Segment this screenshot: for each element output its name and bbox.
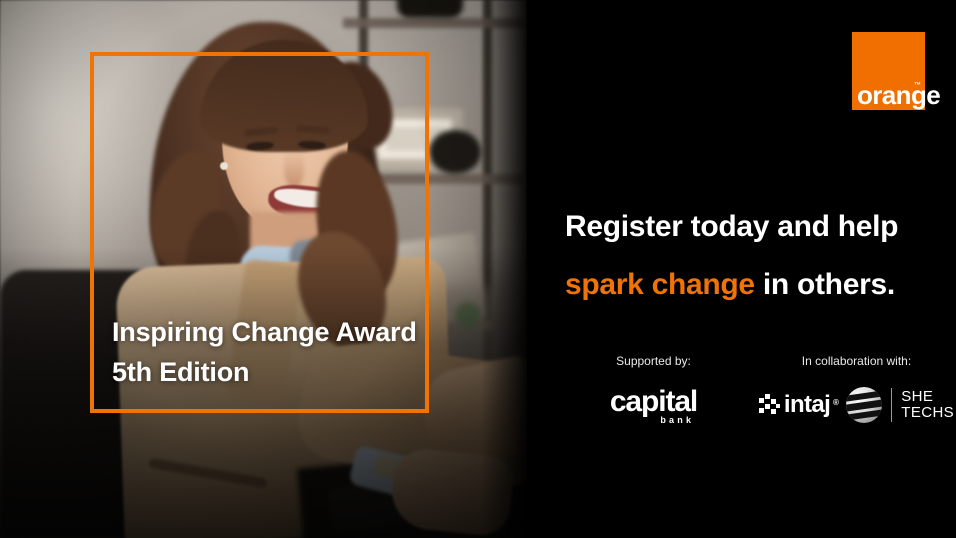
campaign-banner: Inspiring Change Award 5th Edition orang… [0, 0, 956, 538]
award-title-line1: Inspiring Change Award [112, 312, 492, 352]
headline-line1: Register today and help [565, 198, 956, 256]
she-techs-line2: TECHS [901, 405, 954, 421]
photo-right-fade [481, 0, 527, 538]
registered-icon: ® [833, 391, 838, 415]
content-panel: orange ™ Register today and help spark c… [527, 0, 956, 538]
collaboration-label: In collaboration with: [749, 352, 956, 370]
she-techs-logo[interactable]: SHE TECHS [846, 387, 954, 423]
collaboration-logos: intaj® SHE TECHS [749, 387, 956, 423]
intaj-wordmark: intaj® [784, 393, 830, 417]
intaj-text: intaj [784, 391, 830, 418]
headline: Register today and help spark change in … [565, 198, 956, 314]
photo-panel: Inspiring Change Award 5th Edition [0, 0, 527, 538]
award-title-line2: 5th Edition [112, 352, 492, 392]
award-title: Inspiring Change Award 5th Edition [112, 312, 492, 392]
supported-by-label: Supported by: [586, 352, 721, 370]
capital-bank-logo[interactable]: capital bank [610, 387, 697, 426]
intaj-mosaic-icon [759, 394, 781, 416]
capital-bank-wordmark: capital [610, 387, 697, 417]
she-techs-wordmark: SHE TECHS [901, 389, 954, 421]
logo-divider [891, 388, 892, 422]
trademark-icon: ™ [914, 82, 921, 89]
intaj-logo[interactable]: intaj® [759, 393, 830, 417]
headline-line2-rest: in others. [755, 268, 895, 301]
headline-line2: spark change in others. [565, 256, 956, 314]
collaboration-group: In collaboration with: intaj® [749, 352, 956, 423]
supported-by-group: Supported by: capital bank [586, 352, 721, 426]
partners-section: Supported by: capital bank In collaborat… [557, 352, 956, 462]
headline-accent: spark change [565, 268, 755, 301]
she-techs-line1: SHE [901, 389, 954, 405]
supported-by-logos: capital bank [586, 387, 721, 426]
globe-icon [846, 387, 882, 423]
orange-wordmark: orange [857, 82, 940, 108]
orange-logo: orange ™ [852, 32, 925, 110]
